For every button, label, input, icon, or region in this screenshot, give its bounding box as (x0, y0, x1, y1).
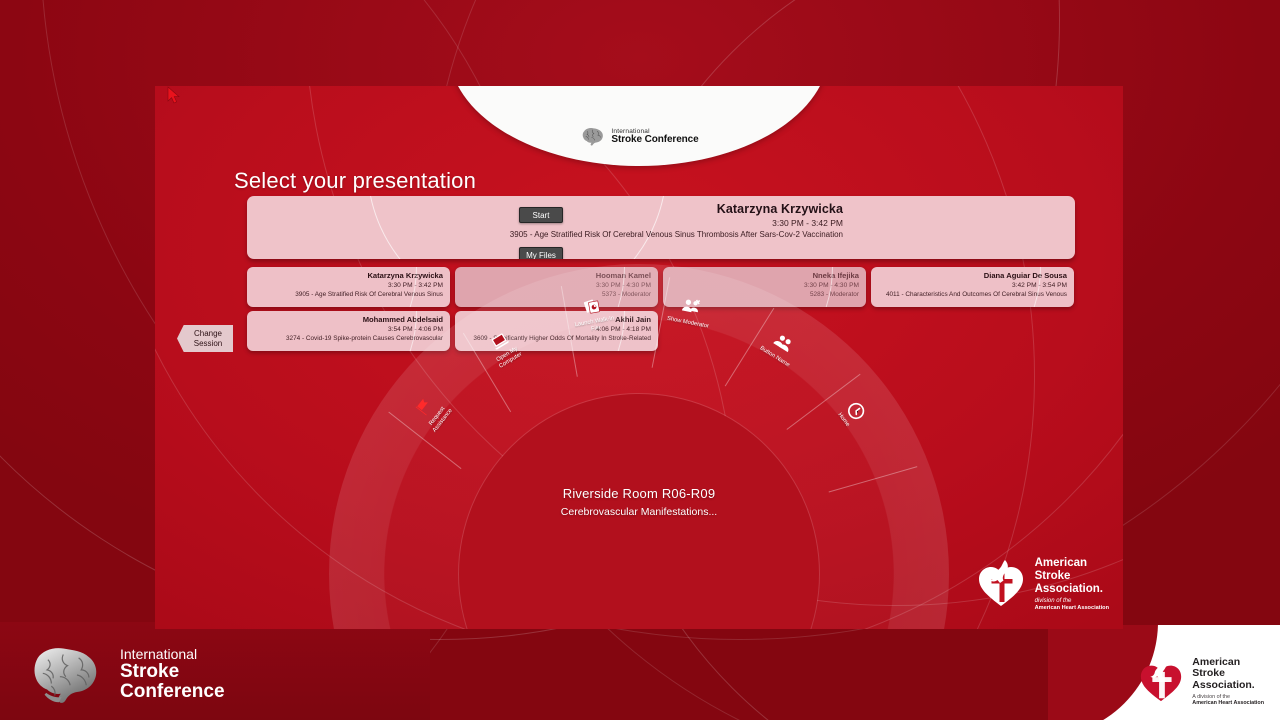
featured-presentation-info: Katarzyna Krzywicka 3:30 PM - 3:42 PM 39… (373, 202, 843, 241)
files-icon (580, 294, 604, 317)
presentation-selector-app: International Stroke Conference Select y… (155, 86, 1123, 629)
projector-backdrop: International Stroke Conference American… (0, 0, 1280, 720)
change-session-tab[interactable]: Change Session (177, 325, 233, 352)
header-dome: International Stroke Conference (449, 86, 829, 166)
moderator-icon (679, 295, 703, 319)
featured-presenter-name: Katarzyna Krzywicka (373, 202, 843, 216)
featured-presentation-card[interactable]: Katarzyna Krzywicka 3:30 PM - 3:42 PM 39… (247, 196, 1075, 259)
radial-menu-item-label: Show Moderator (663, 315, 713, 331)
brain-icon (579, 126, 605, 148)
asa-app-line2: Stroke (1035, 570, 1109, 583)
isc-brand-line1: International (120, 647, 225, 662)
asa-brand-footer: American Stroke Association. A division … (1137, 657, 1264, 706)
asa-app-sub1: division of the (1035, 598, 1109, 605)
featured-description: 3905 - Age Stratified Risk Of Cerebral V… (373, 230, 843, 241)
page-title: Select your presentation (234, 168, 476, 194)
asa-logo-app: American Stroke Association. division of… (975, 557, 1109, 611)
start-button[interactable]: Start (519, 207, 563, 223)
isc-brand-footer: International Stroke Conference (22, 646, 225, 704)
asa-heart-torch-icon (975, 559, 1027, 609)
brain-icon (22, 646, 108, 704)
radial-menu: Request AssistanceOpen My ComputerLaunch… (329, 264, 949, 629)
change-session-line2: Session (194, 339, 222, 349)
asa-app-line3: Association. (1035, 583, 1109, 596)
isc-brand-line3: Conference (120, 682, 225, 702)
change-session-line1: Change (194, 329, 222, 339)
radial-menu-item-label: Launch Walk-In File (569, 315, 621, 338)
asa-footer-line3: Association. (1192, 680, 1264, 692)
room-name: Riverside Room R06-R09 (429, 486, 849, 501)
isc-brand-line2: Stroke (120, 662, 225, 682)
isc-logo-header: International Stroke Conference (579, 126, 698, 148)
asa-footer-sub2: American Heart Association (1192, 700, 1264, 706)
asa-app-line1: American (1035, 557, 1109, 570)
session-name: Cerebrovascular Manifestations... (429, 506, 849, 518)
my-files-button[interactable]: My Files (519, 247, 563, 259)
room-caption: Riverside Room R06-R09 Cerebrovascular M… (429, 486, 849, 518)
featured-time: 3:30 PM - 3:42 PM (373, 218, 843, 228)
isc-logo-line2: Stroke Conference (611, 135, 698, 145)
asa-app-sub2: American Heart Association (1035, 605, 1109, 611)
asa-heart-torch-icon (1137, 657, 1185, 705)
